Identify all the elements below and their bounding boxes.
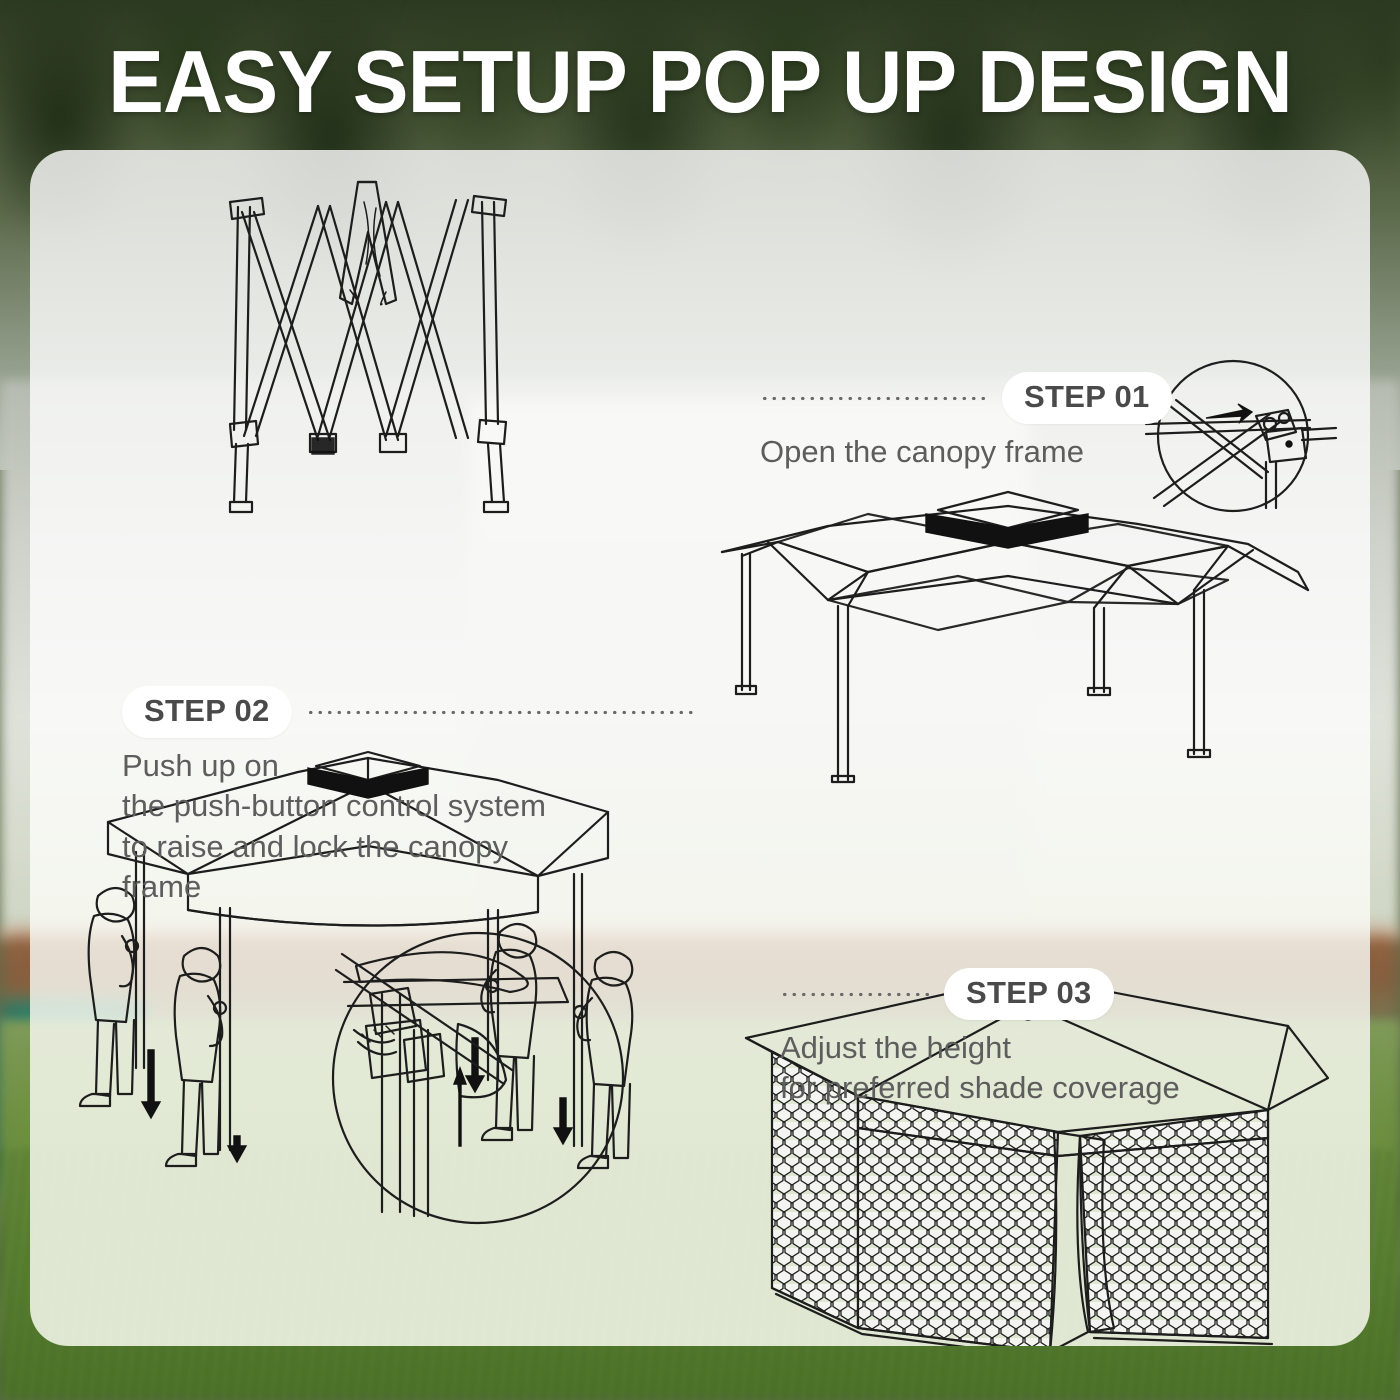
step-02-description: Push up on the push-button control syste… [122,746,696,907]
step-01-block: STEP 01 Open the canopy frame [760,372,1172,472]
dot-leader-icon [780,992,930,997]
illustration-step-02 [708,480,1328,780]
step-01-badge: STEP 01 [1002,372,1172,424]
content-panel: STEP 01 Open the canopy frame STEP 02 Pu… [30,150,1370,1346]
illustration-step-03-detail-circle [308,930,648,1230]
dot-leader-icon [760,396,988,401]
page-title: EASY SETUP POP UP DESIGN [35,38,1365,126]
step-03-badge: STEP 03 [944,968,1114,1020]
step-03-description: Adjust the height for preferred shade co… [780,1028,1180,1109]
step-03-block: STEP 03 Adjust the height for preferred … [780,968,1180,1109]
illustration-step-01 [190,172,530,522]
step-02-block: STEP 02 Push up on the push-button contr… [122,686,696,907]
step-02-badge: STEP 02 [122,686,292,738]
step-01-badge-row: STEP 01 [982,372,1172,424]
step-02-badge-row: STEP 02 [122,686,696,738]
step-03-badge-row: STEP 03 [928,968,1180,1020]
step-01-description: Open the canopy frame [760,432,1172,472]
dot-leader-icon [306,710,696,715]
